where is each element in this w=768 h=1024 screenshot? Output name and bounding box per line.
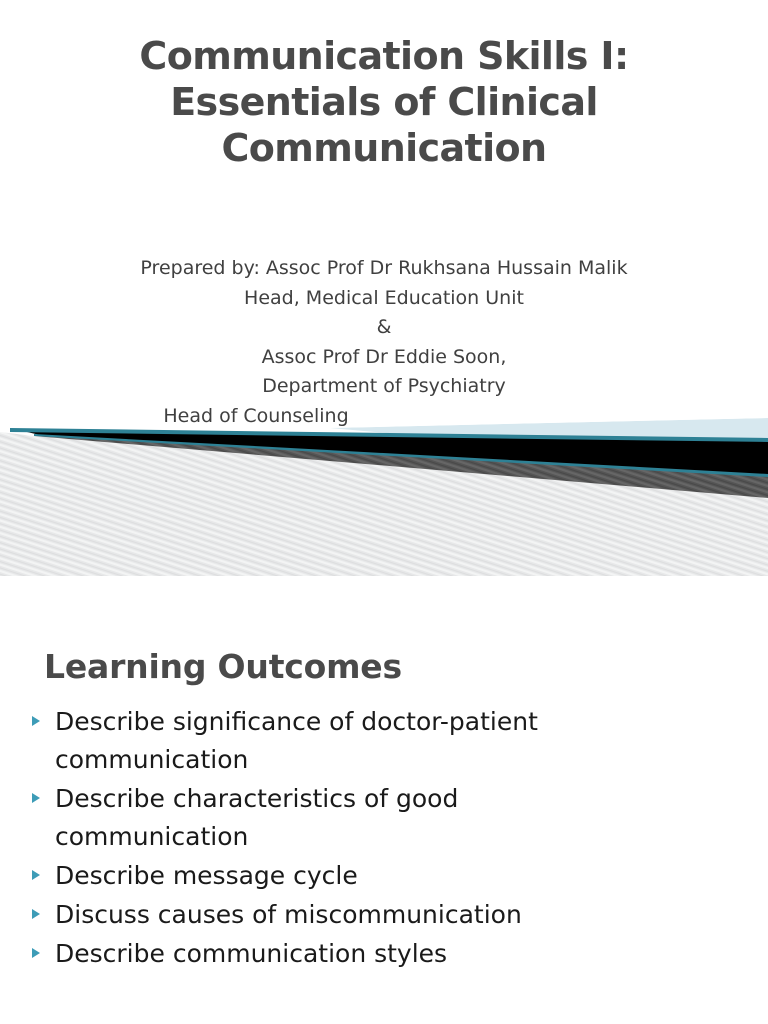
list-item-label: Describe communication styles bbox=[55, 935, 740, 973]
triangle-bullet-icon bbox=[32, 716, 40, 726]
list-item: Describe significance of doctor-patient … bbox=[28, 703, 740, 779]
list-item-label: Describe significance of doctor-patient … bbox=[55, 703, 655, 779]
list-item-label: Describe message cycle bbox=[55, 857, 740, 895]
list-item: Discuss causes of miscommunication bbox=[28, 896, 740, 934]
credit-line-ampersand: & bbox=[0, 313, 768, 343]
presenter-credits: Prepared by: Assoc Prof Dr Rukhsana Huss… bbox=[0, 254, 768, 431]
credit-line-second-author: Assoc Prof Dr Eddie Soon, bbox=[0, 343, 768, 373]
list-item-label: Discuss causes of miscommunication bbox=[55, 896, 740, 934]
title-slide: Communication Skills I: Essentials of Cl… bbox=[0, 0, 768, 576]
learning-outcomes-slide: Learning Outcomes Describe significance … bbox=[0, 576, 768, 1024]
triangle-bullet-icon bbox=[32, 948, 40, 958]
credit-line-prepared-by: Prepared by: Assoc Prof Dr Rukhsana Huss… bbox=[0, 254, 768, 284]
credit-line-department: Department of Psychiatry bbox=[0, 372, 768, 402]
decorative-band-graphic bbox=[0, 408, 768, 576]
list-item: Describe communication styles bbox=[28, 935, 740, 973]
list-item-label: Describe characteristics of good communi… bbox=[55, 780, 655, 856]
decorative-angled-band bbox=[0, 408, 768, 576]
page-title: Communication Skills I: Essentials of Cl… bbox=[0, 33, 768, 171]
triangle-bullet-icon bbox=[32, 909, 40, 919]
triangle-bullet-icon bbox=[32, 870, 40, 880]
triangle-bullet-icon bbox=[32, 793, 40, 803]
credit-line-unit: Head, Medical Education Unit bbox=[0, 284, 768, 314]
slide-heading: Learning Outcomes bbox=[44, 647, 402, 687]
learning-outcomes-list: Describe significance of doctor-patient … bbox=[28, 703, 740, 974]
list-item: Describe message cycle bbox=[28, 857, 740, 895]
list-item: Describe characteristics of good communi… bbox=[28, 780, 740, 856]
